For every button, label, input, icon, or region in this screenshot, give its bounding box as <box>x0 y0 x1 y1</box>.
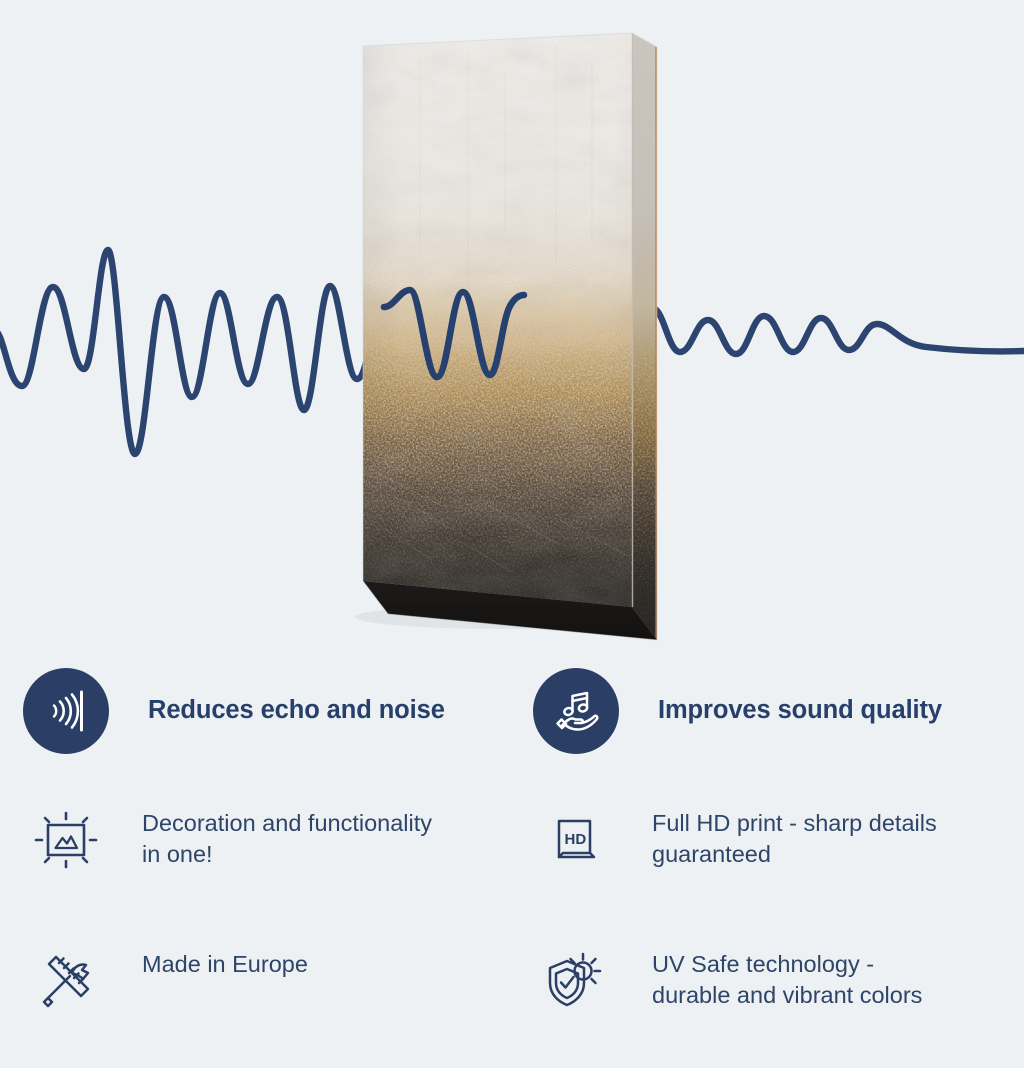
feature-label: Full HD print - sharp details guaranteed <box>652 808 937 869</box>
feature-label: Reduces echo and noise <box>148 696 445 725</box>
feature-column-left: Reduces echo and noise <box>10 636 510 1068</box>
feature-label-line: Full HD print - sharp details <box>652 808 937 839</box>
feature-label-line: in one! <box>142 839 432 870</box>
hd-print-icon: HD <box>536 808 616 872</box>
feature-label: Decoration and functionality in one! <box>142 808 432 869</box>
feature-label: UV Safe technology - durable and vibrant… <box>652 949 922 1010</box>
feature-label-line: UV Safe technology - <box>652 949 922 980</box>
uv-shield-icon <box>536 949 616 1013</box>
feature-list: Reduces echo and noise <box>0 636 1024 1024</box>
feature-label: Improves sound quality <box>658 696 942 725</box>
feature-label-line: durable and vibrant colors <box>652 980 922 1011</box>
feature-label-line: Made in Europe <box>142 949 308 980</box>
music-note-in-hand-icon <box>533 668 619 754</box>
framed-picture-icon <box>26 808 106 872</box>
feature-uv-safe[interactable]: UV Safe technology - durable and vibrant… <box>520 927 1020 1068</box>
feature-full-hd-print[interactable]: HD Full HD print - sharp details guarant… <box>520 786 1020 927</box>
infographic-root: Reduces echo and noise <box>0 0 1024 1024</box>
feature-decoration-functionality[interactable]: Decoration and functionality in one! <box>10 786 510 927</box>
svg-text:HD: HD <box>565 831 587 848</box>
feature-label-line: guaranteed <box>652 839 937 870</box>
sound-absorbing-panel-icon <box>23 668 109 754</box>
sound-wave-absorbed <box>384 290 524 377</box>
feature-label: Made in Europe <box>142 949 308 980</box>
feature-label-line: Decoration and functionality <box>142 808 432 839</box>
hammer-and-ruler-icon <box>26 949 106 1013</box>
feature-column-right: Improves sound quality HD Full HD print … <box>520 636 1020 1068</box>
hero-section <box>0 0 1024 660</box>
feature-made-in-europe[interactable]: Made in Europe <box>10 927 510 1068</box>
sound-wave-foreground <box>0 0 1024 660</box>
